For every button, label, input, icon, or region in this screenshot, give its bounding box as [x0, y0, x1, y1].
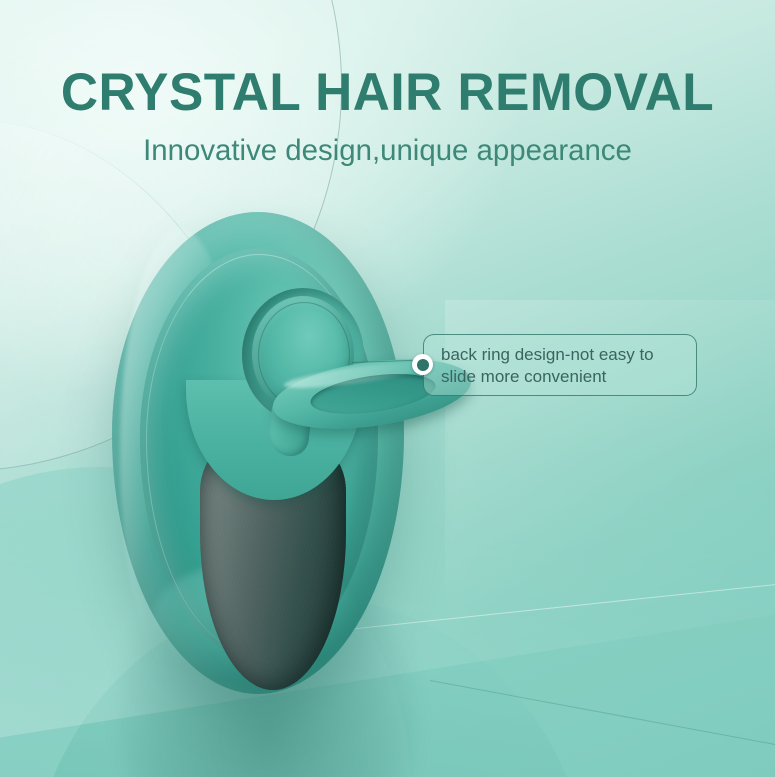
callout-box: back ring design-not easy to slide more … [423, 334, 697, 396]
callout-marker-dot-icon [412, 354, 433, 375]
page-title: CRYSTAL HAIR REMOVAL [12, 62, 764, 123]
product-poster: CRYSTAL HAIR REMOVAL Innovative design,u… [0, 0, 775, 777]
product-image [112, 212, 404, 694]
callout-text: back ring design-not easy to slide more … [441, 344, 696, 388]
page-subtitle: Innovative design,unique appearance [8, 134, 768, 168]
